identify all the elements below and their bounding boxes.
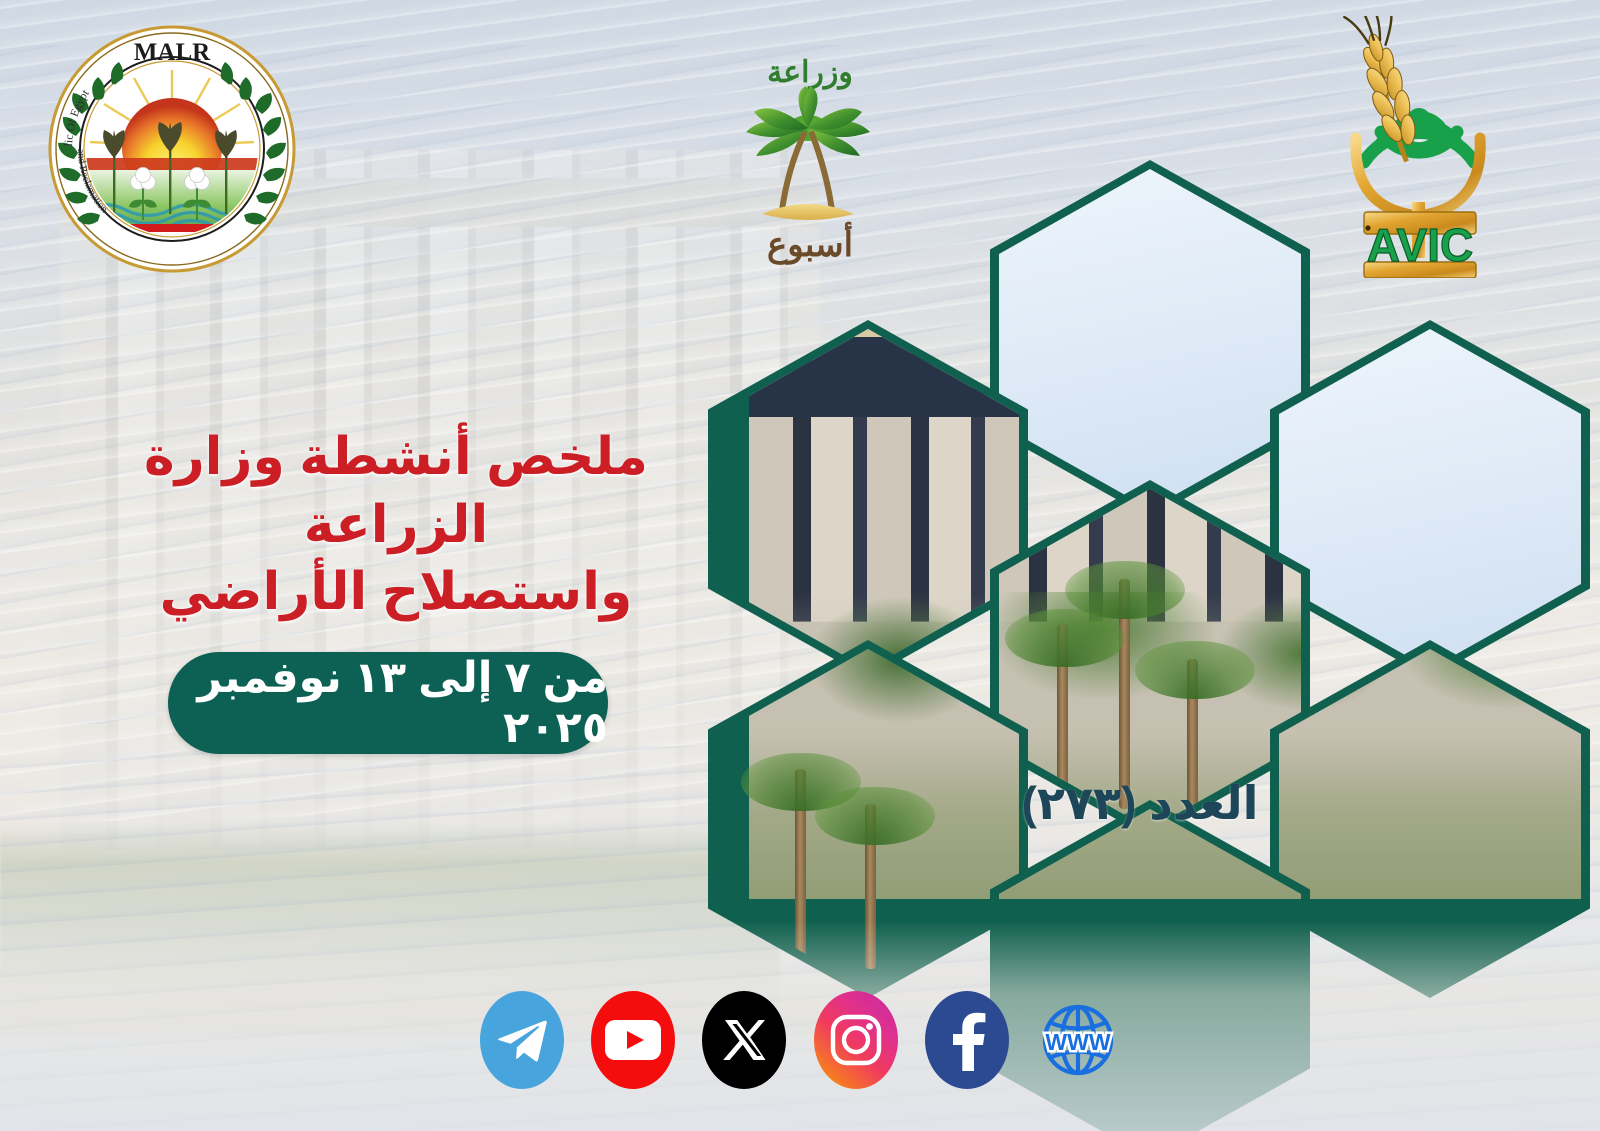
page-title-line-2: واستصلاح الأراضي <box>96 559 696 627</box>
telegram-icon[interactable] <box>480 991 564 1089</box>
malr-acronym: MALR <box>134 39 211 66</box>
avic-logo: AVIC <box>1286 16 1536 278</box>
week-logo-text-top: وزراعة <box>767 56 853 90</box>
hexagon-fill-sky <box>999 169 1301 509</box>
website-icon[interactable]: WWW <box>1036 991 1120 1089</box>
page-title-line-1: ملخص أنشطة وزارة الزراعة <box>96 424 696 559</box>
week-logo-text-bottom: أسبوع <box>767 222 853 265</box>
avic-acronym: AVIC <box>1367 219 1474 271</box>
website-icon-label: WWW <box>1045 1029 1110 1055</box>
hexagon-left-middle <box>708 320 1028 678</box>
palm-trees-overlay-bottom <box>717 649 1019 989</box>
malr-emblem: MALR Arab Republic Of Egypt Ministry Of … <box>38 18 306 280</box>
x-twitter-icon[interactable] <box>702 991 786 1089</box>
date-range-badge: من ٧ إلى ١٣ نوفمبر ٢٠٢٥ <box>168 652 608 754</box>
page-title: ملخص أنشطة وزارة الزراعة واستصلاح الأراض… <box>96 424 696 627</box>
hexagon-top-center <box>990 160 1310 518</box>
youtube-icon[interactable] <box>591 991 675 1089</box>
hexagon-fill-sky-right <box>1279 329 1581 669</box>
poster-canvas: MALR Arab Republic Of Egypt Ministry Of … <box>0 0 1600 1131</box>
agriculture-week-logo: وزراعة أسبوع <box>718 42 898 278</box>
social-links-bar: WWW <box>480 985 1120 1095</box>
instagram-icon[interactable] <box>814 991 898 1089</box>
hexagon-fill-photo-bottom-left <box>717 649 1019 989</box>
hexagon-fill-photo-right <box>1279 649 1581 989</box>
date-range-label: من ٧ إلى ١٣ نوفمبر ٢٠٢٥ <box>168 653 608 753</box>
facebook-icon[interactable] <box>925 991 1009 1089</box>
issue-number: العدد (٢٧٣) <box>1000 776 1280 830</box>
hexagon-fill-photo-left <box>717 329 1019 669</box>
hexagon-upper-right <box>1270 320 1590 678</box>
